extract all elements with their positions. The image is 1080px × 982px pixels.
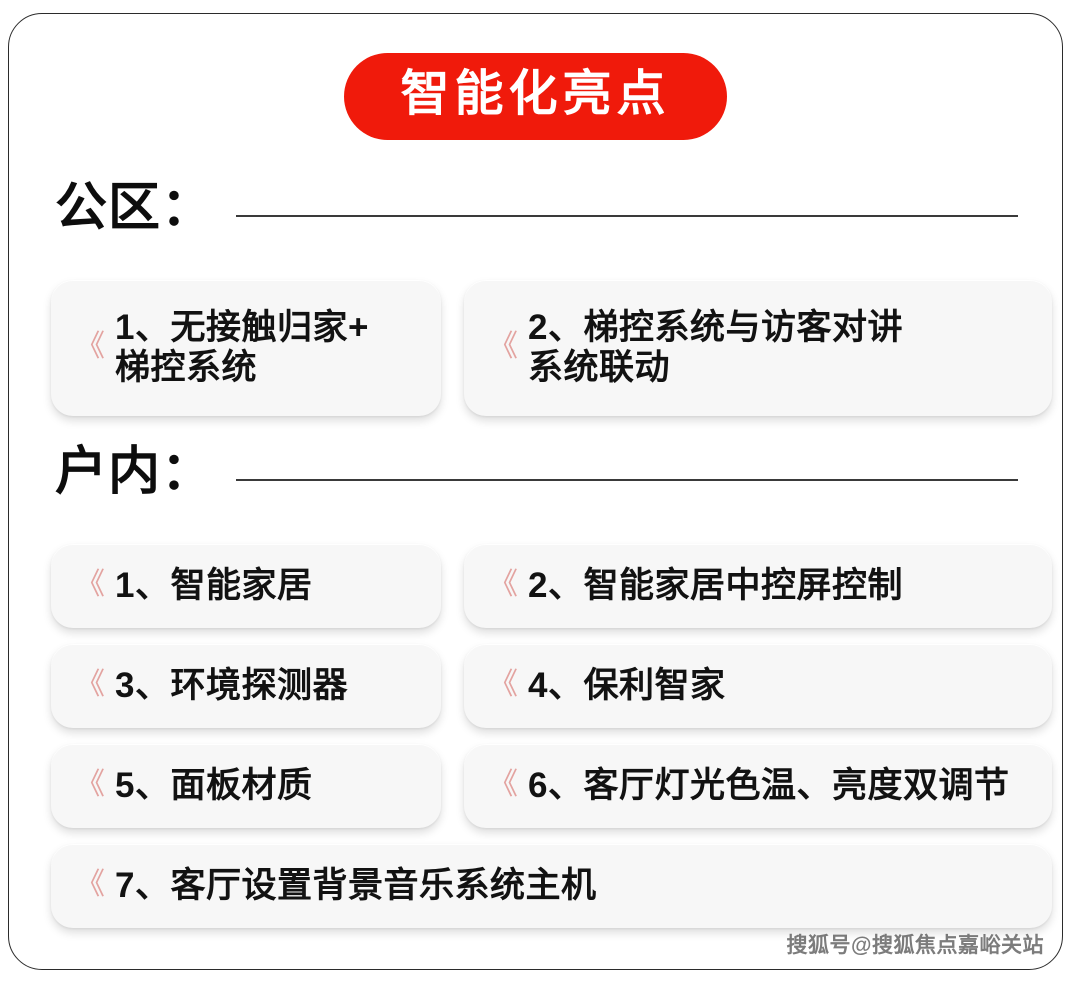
page-title-badge: 智能化亮点	[344, 53, 726, 140]
title-container: 智能化亮点	[9, 53, 1062, 140]
card-indoor-5[interactable]: 《 5、面板材质	[51, 744, 441, 828]
section-label: 公区：	[55, 182, 214, 234]
card-label: 2、智能家居中控屏控制	[528, 566, 1036, 606]
section-divider	[236, 215, 1018, 217]
section-label: 户内：	[55, 446, 214, 498]
chevron-left-double-icon: 《	[488, 670, 514, 700]
source-watermark: 搜狐号@搜狐焦点嘉峪关站	[787, 929, 1044, 959]
card-label: 6、客厅灯光色温、亮度双调节	[528, 766, 1036, 806]
card-label: 3、环境探测器	[115, 666, 425, 706]
section-header-public-area: 公区：	[55, 182, 1042, 234]
card-indoor-2[interactable]: 《 2、智能家居中控屏控制	[464, 544, 1052, 628]
card-indoor-4[interactable]: 《 4、保利智家	[464, 644, 1052, 728]
card-label: 5、面板材质	[115, 766, 425, 806]
card-indoor-1[interactable]: 《 1、智能家居	[51, 544, 441, 628]
card-indoor-3[interactable]: 《 3、环境探测器	[51, 644, 441, 728]
chevron-left-double-icon: 《	[488, 770, 514, 800]
section-header-indoor: 户内：	[55, 446, 1042, 498]
chevron-left-double-icon: 《	[75, 770, 101, 800]
card-label: 2、梯控系统与访客对讲 系统联动	[528, 308, 1036, 388]
chevron-left-double-icon: 《	[488, 570, 514, 600]
card-label: 1、无接触归家+ 梯控系统	[115, 308, 425, 388]
card-indoor-7[interactable]: 《 7、客厅设置背景音乐系统主机	[51, 844, 1052, 928]
chevron-left-double-icon: 《	[75, 870, 101, 900]
chevron-left-double-icon: 《	[75, 332, 101, 362]
card-label: 7、客厅设置背景音乐系统主机	[115, 866, 1036, 906]
card-label: 1、智能家居	[115, 566, 425, 606]
chevron-left-double-icon: 《	[488, 332, 514, 362]
card-indoor-6[interactable]: 《 6、客厅灯光色温、亮度双调节	[464, 744, 1052, 828]
poster-frame: 智能化亮点 公区： 《 1、无接触归家+ 梯控系统 《 2、梯控系统与访客对讲 …	[8, 13, 1063, 970]
chevron-left-double-icon: 《	[75, 670, 101, 700]
section-divider	[236, 479, 1018, 481]
card-public-1[interactable]: 《 1、无接触归家+ 梯控系统	[51, 280, 441, 416]
card-label: 4、保利智家	[528, 666, 1036, 706]
chevron-left-double-icon: 《	[75, 570, 101, 600]
card-public-2[interactable]: 《 2、梯控系统与访客对讲 系统联动	[464, 280, 1052, 416]
